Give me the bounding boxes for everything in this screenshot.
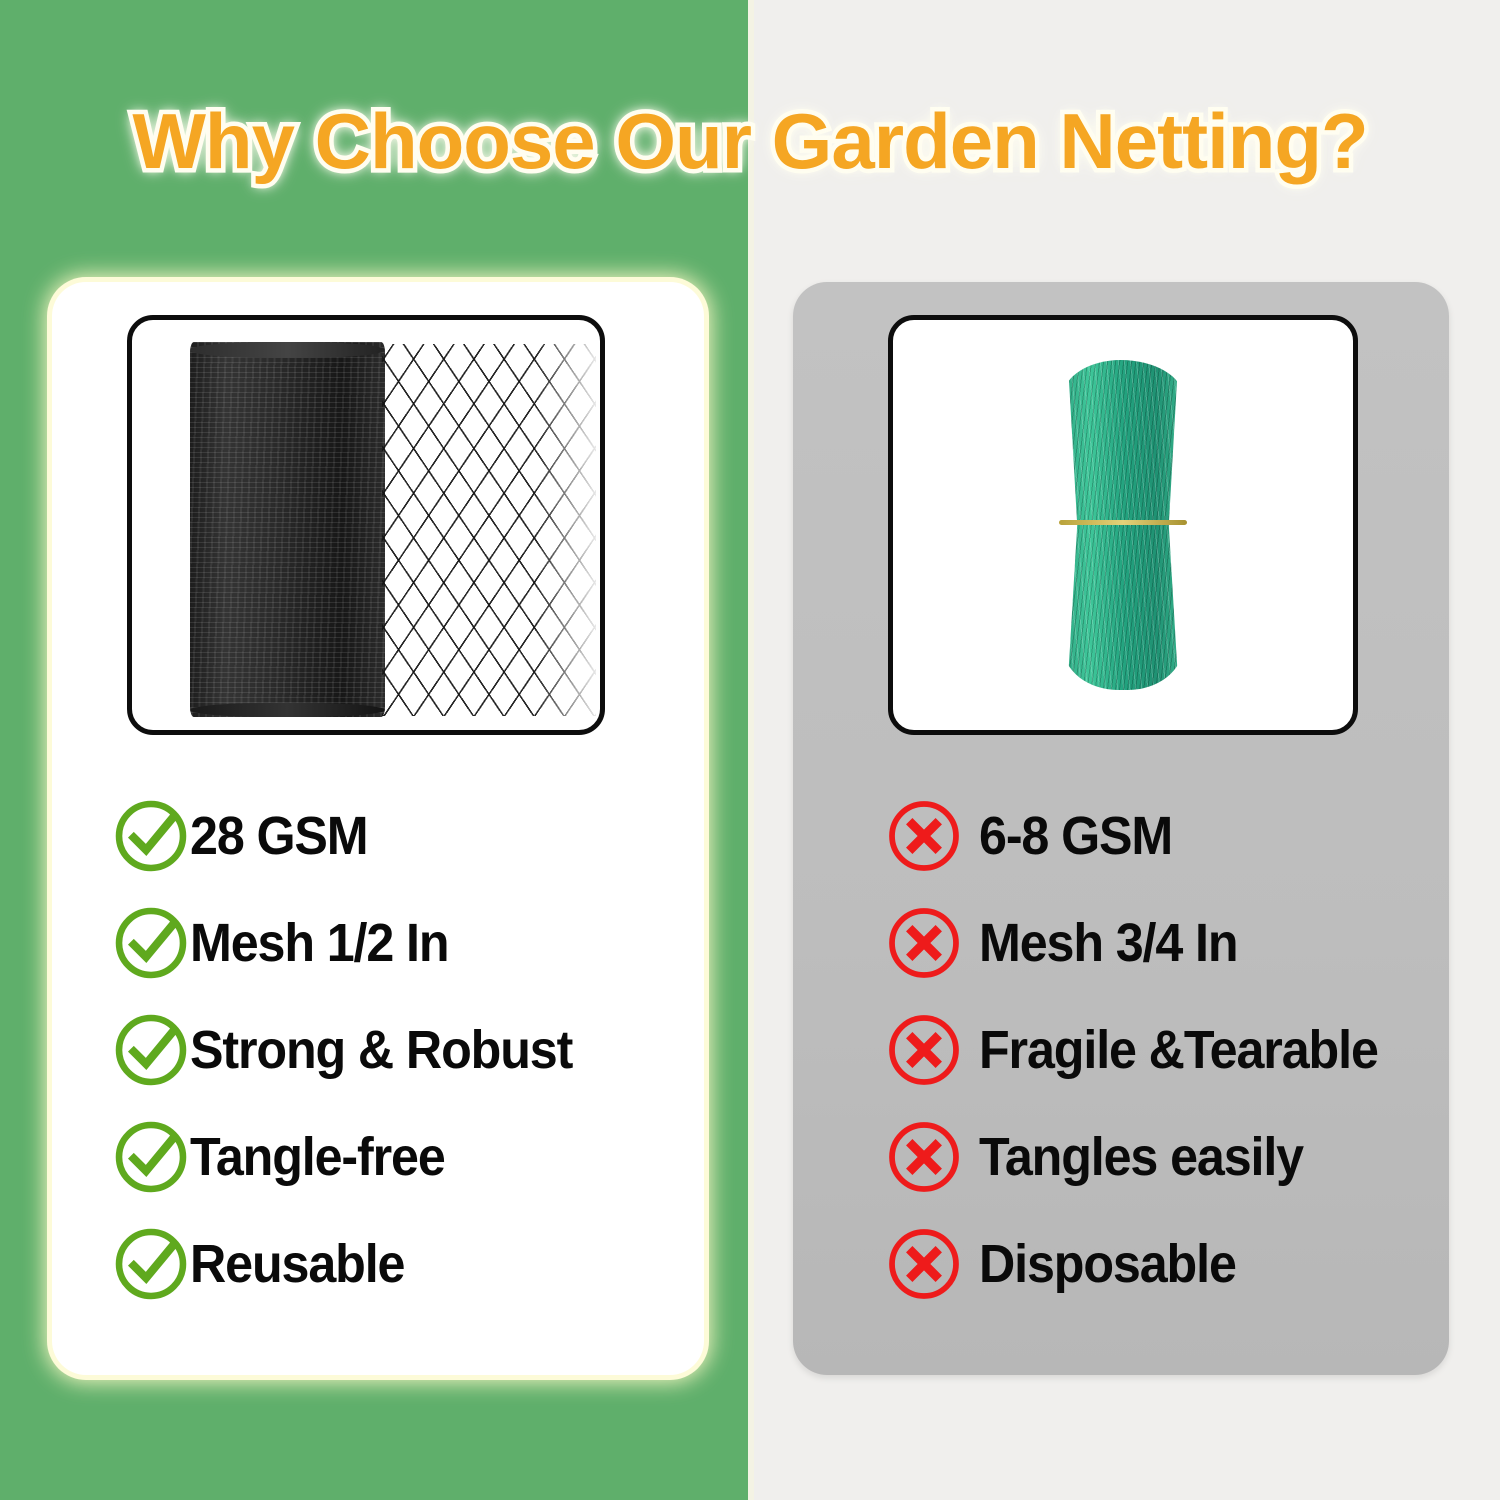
cross-circle-icon (883, 902, 965, 984)
bundle-tie-string (1059, 520, 1187, 525)
bundle-upper-half (1063, 360, 1183, 528)
black-netting-roll-icon (190, 342, 385, 717)
cross-circle-icon (883, 1223, 965, 1305)
bundle-lower-half (1063, 522, 1183, 690)
list-item: Mesh 3/4 In (793, 889, 1449, 996)
cross-circle-icon (883, 1116, 965, 1198)
list-item-label: Mesh 3/4 In (979, 916, 1237, 970)
list-item-label: Tangle-free (190, 1130, 445, 1184)
our-product-feature-list: 28 GSM Mesh 1/2 In Strong & Robust (52, 782, 704, 1317)
green-netting-bundle-icon (1063, 360, 1183, 690)
list-item: Fragile &Tearable (793, 996, 1449, 1103)
list-item-label: Mesh 1/2 In (190, 916, 448, 970)
list-item: Disposable (793, 1210, 1449, 1317)
list-item-label: Reusable (190, 1237, 404, 1291)
list-item-label: Strong & Robust (190, 1023, 572, 1077)
check-circle-icon (110, 902, 192, 984)
panel-divider (748, 0, 754, 1500)
list-item: Tangles easily (793, 1103, 1449, 1210)
diamond-mesh-pattern-icon (382, 344, 596, 716)
check-circle-icon (110, 1009, 192, 1091)
list-item-label: 28 GSM (190, 809, 368, 863)
our-product-card: 28 GSM Mesh 1/2 In Strong & Robust (52, 282, 704, 1375)
competitor-product-card: 6-8 GSM Mesh 3/4 In Fragile &Tearable (793, 282, 1449, 1375)
our-product-photo-frame (127, 315, 605, 735)
list-item-label: 6-8 GSM (979, 809, 1172, 863)
check-circle-icon (110, 1116, 192, 1198)
list-item: 28 GSM (52, 782, 704, 889)
list-item: Tangle-free (52, 1103, 704, 1210)
cross-circle-icon (883, 795, 965, 877)
competitor-feature-list: 6-8 GSM Mesh 3/4 In Fragile &Tearable (793, 782, 1449, 1317)
list-item: 6-8 GSM (793, 782, 1449, 889)
list-item: Mesh 1/2 In (52, 889, 704, 996)
list-item-label: Disposable (979, 1237, 1236, 1291)
cross-circle-icon (883, 1009, 965, 1091)
list-item-label: Fragile &Tearable (979, 1023, 1378, 1077)
list-item-label: Tangles easily (979, 1130, 1303, 1184)
check-circle-icon (110, 795, 192, 877)
check-circle-icon (110, 1223, 192, 1305)
list-item: Reusable (52, 1210, 704, 1317)
list-item: Strong & Robust (52, 996, 704, 1103)
competitor-product-photo-frame (888, 315, 1358, 735)
page-title: Why Choose Our Garden Netting? (0, 96, 1500, 187)
